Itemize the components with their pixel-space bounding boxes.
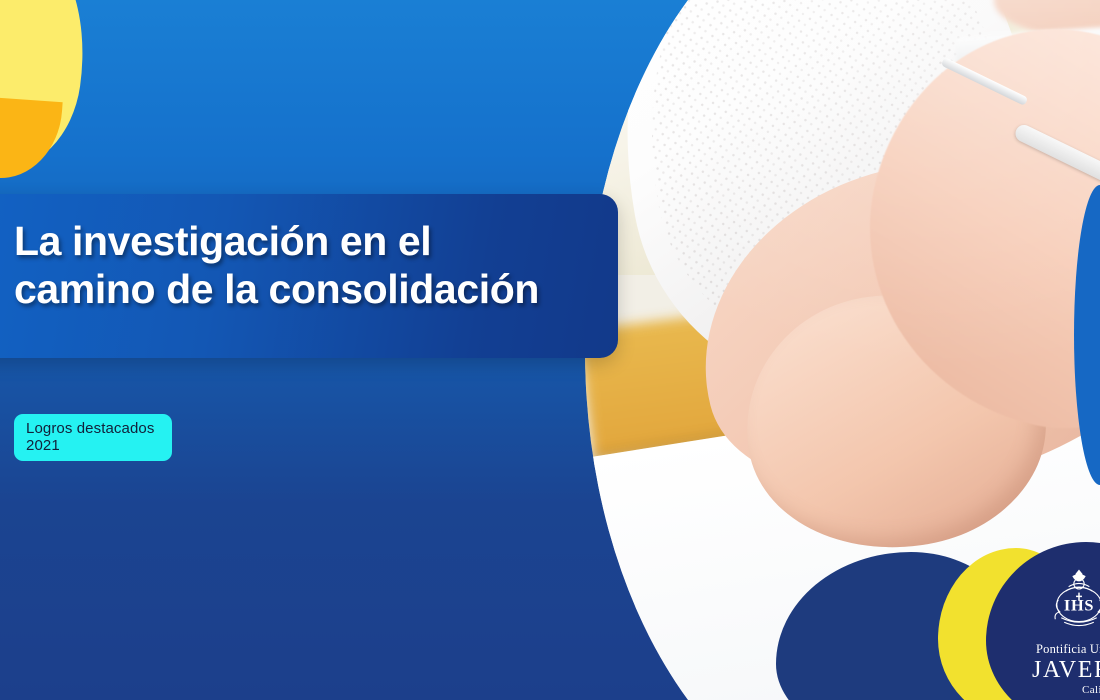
- badge-line-2: 2021: [26, 438, 160, 455]
- title-line-2: camino de la consolidación: [14, 266, 714, 314]
- logo-line-1: Pontificia Universidad: [1036, 642, 1100, 657]
- status-badge: Logros destacados 2021: [14, 414, 172, 461]
- crest-icon: IHS: [1042, 566, 1100, 640]
- decor-blob-orange: [0, 94, 63, 182]
- presentation-slide: IHS Pontificia Universidad JAVERIANA Cal…: [0, 0, 1100, 700]
- title-line-1: La investigación en el: [14, 218, 714, 266]
- badge-line-1: Logros destacados: [26, 421, 160, 438]
- page-title: La investigación en el camino de la cons…: [14, 218, 714, 313]
- logo-line-2: JAVERIANA: [1032, 657, 1100, 684]
- logo-line-3: Cali: [1082, 684, 1100, 696]
